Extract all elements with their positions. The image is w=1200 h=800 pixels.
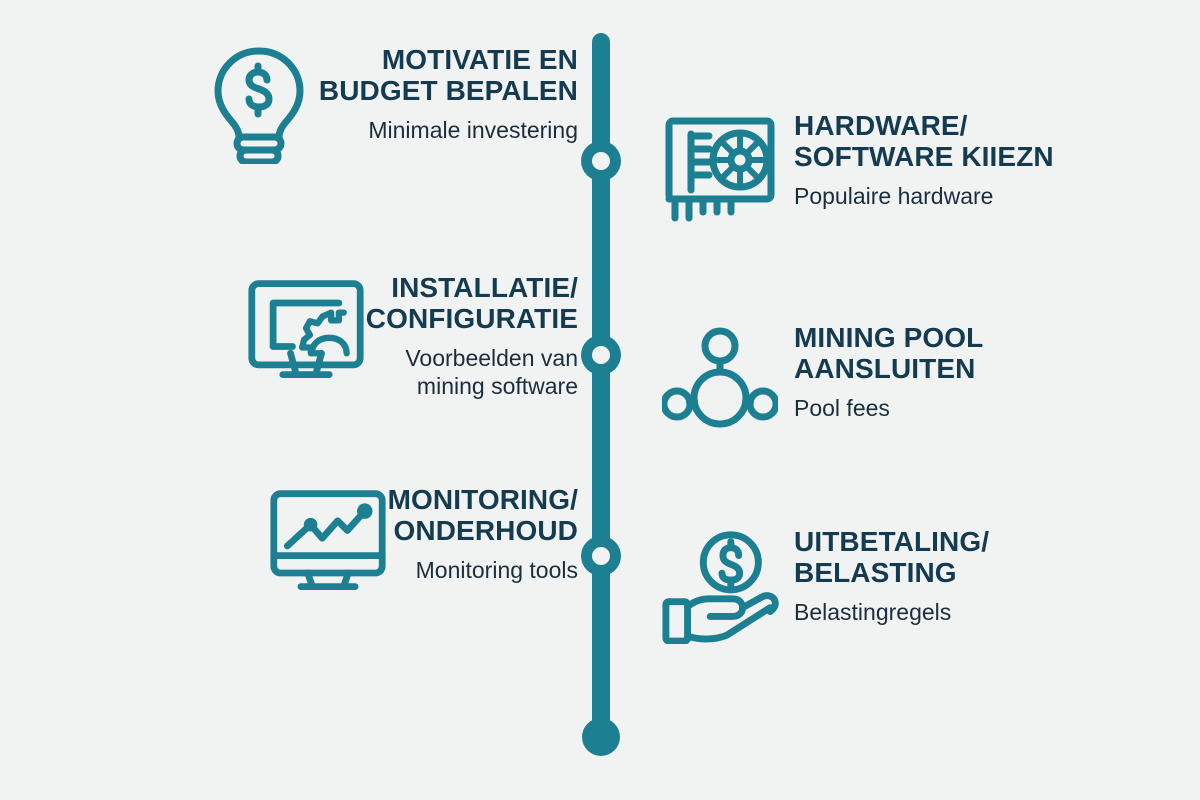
step-text: INSTALLATIE/ CONFIGURATIE Voorbeelden va… <box>366 272 592 400</box>
step-item-mining-pool-aansluiten: MINING POOL AANSLUITEN Pool fees <box>660 322 1170 442</box>
step-item-uitbetaling-belasting: UITBETALING/ BELASTING Belastingregels <box>660 526 1170 646</box>
timeline <box>592 33 610 748</box>
hand-coin-icon <box>660 526 780 646</box>
step-text: UITBETALING/ BELASTING Belastingregels <box>780 526 989 626</box>
timeline-end-cap <box>582 718 620 756</box>
monitor-chart-icon <box>268 484 388 604</box>
lightbulb-dollar-icon <box>199 44 319 164</box>
step-subtitle: Minimale investering <box>368 116 578 144</box>
step-text: MONITORING/ ONDERHOUD Monitoring tools <box>388 484 592 584</box>
network-nodes-icon <box>660 322 780 442</box>
step-item-installatie-configuratie: INSTALLATIE/ CONFIGURATIE Voorbeelden va… <box>150 272 592 400</box>
step-text: MINING POOL AANSLUITEN Pool fees <box>780 322 983 422</box>
step-item-monitoring-onderhoud: MONITORING/ ONDERHOUD Monitoring tools <box>150 484 592 604</box>
step-subtitle: Populaire hardware <box>794 182 993 210</box>
step-text: MOTIVATIE EN BUDGET BEPALEN Minimale inv… <box>319 44 592 144</box>
step-title: MINING POOL AANSLUITEN <box>794 322 983 385</box>
step-title: MONITORING/ ONDERHOUD <box>388 484 578 547</box>
step-subtitle: Pool fees <box>794 394 890 422</box>
step-title: UITBETALING/ BELASTING <box>794 526 989 589</box>
mining-process-infographic: MOTIVATIE EN BUDGET BEPALEN Minimale inv… <box>0 0 1200 800</box>
step-title: HARDWARE/ SOFTWARE KIIEZN <box>794 110 1054 173</box>
step-title: MOTIVATIE EN BUDGET BEPALEN <box>319 44 578 107</box>
step-subtitle: Voorbeelden van mining software <box>405 344 578 400</box>
step-title: INSTALLATIE/ CONFIGURATIE <box>366 272 578 335</box>
step-subtitle: Monitoring tools <box>416 556 578 584</box>
step-item-motivatie-en-budget-bepalen: MOTIVATIE EN BUDGET BEPALEN Minimale inv… <box>150 44 592 164</box>
step-item-hardware-software-kiiezn: HARDWARE/ SOFTWARE KIIEZN Populaire hard… <box>660 110 1170 230</box>
graphics-card-icon <box>660 110 780 230</box>
monitor-gear-icon <box>246 272 366 392</box>
step-text: HARDWARE/ SOFTWARE KIIEZN Populaire hard… <box>780 110 1054 210</box>
step-subtitle: Belastingregels <box>794 598 951 626</box>
